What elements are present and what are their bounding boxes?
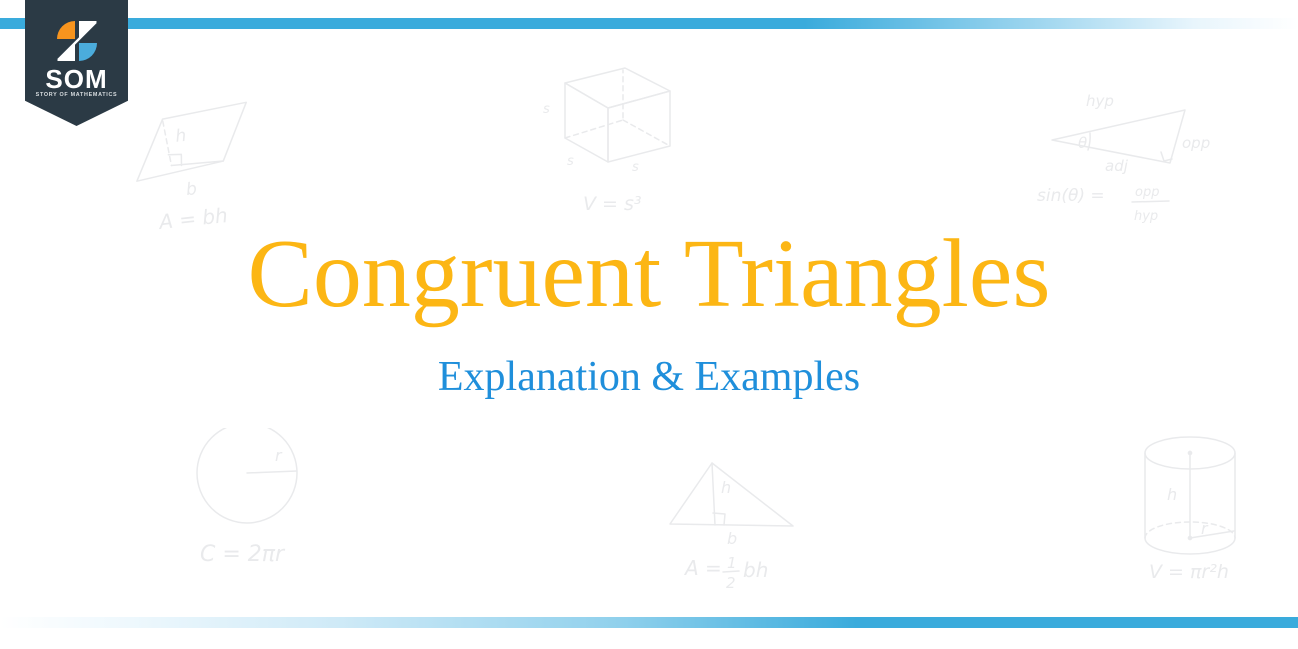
page-root: h b A = bh s s s V = s³ hyp opp adj θ: [0, 0, 1298, 649]
formula-volume: V = πr²h: [1149, 561, 1229, 583]
label-r: r: [1201, 519, 1209, 538]
formula-numerator: 1: [727, 554, 737, 572]
page-subtitle: Explanation & Examples: [0, 354, 1298, 400]
som-logo-tagline: STORY OF MATHEMATICS: [25, 92, 128, 98]
label-h: h: [1167, 485, 1177, 504]
label-adj: adj: [1105, 157, 1129, 175]
formula-prefix: A =: [683, 556, 722, 580]
watermark-cylinder: h r V = πr²h: [1135, 428, 1280, 588]
label-theta: θ: [1078, 134, 1087, 152]
formula-suffix: bh: [743, 558, 768, 582]
label-b: b: [185, 179, 198, 200]
formula-sine-numerator: opp: [1135, 185, 1159, 200]
som-logo-wordmark: SOM: [25, 66, 128, 92]
formula-sine: sin(θ) =: [1037, 186, 1105, 206]
label-s-left: s: [543, 102, 550, 117]
label-s-bottom-left: s: [567, 154, 574, 169]
top-accent-bar: [0, 18, 1298, 29]
bottom-accent-bar: [0, 617, 1298, 628]
watermark-cube: s s s V = s³: [535, 58, 700, 218]
page-title: Congruent Triangles: [0, 222, 1298, 326]
formula-circumference: C = 2πr: [200, 542, 286, 567]
label-r: r: [275, 446, 283, 465]
label-s-bottom-right: s: [632, 160, 639, 175]
label-h: h: [721, 478, 731, 497]
som-logo-banner[interactable]: SOM STORY OF MATHEMATICS: [25, 0, 128, 126]
label-hyp: hyp: [1086, 92, 1114, 110]
watermark-triangle: h b A = 1 2 bh: [655, 445, 835, 590]
label-opp: opp: [1182, 134, 1210, 152]
watermark-circle: r C = 2πr: [195, 428, 330, 578]
som-logo-mark: [53, 17, 101, 65]
watermark-parallelogram: h b A = bh: [125, 100, 265, 235]
formula-volume: V = s³: [583, 193, 642, 215]
label-b: b: [727, 529, 737, 548]
label-h: h: [174, 126, 187, 147]
watermark-right-triangle-trig: hyp opp adj θ sin(θ) = opp hyp: [1030, 78, 1245, 228]
formula-denominator: 2: [726, 574, 736, 590]
